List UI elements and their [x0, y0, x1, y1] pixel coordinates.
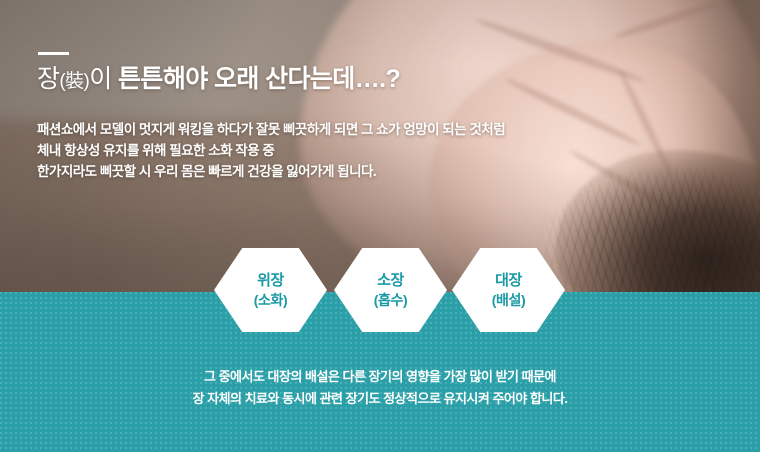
- footer-caption-line: 장 자체의 치료와 동시에 관련 장기도 정상적으로 유지시켜 주어야 합니다.: [0, 388, 760, 410]
- headline-divider-rule: [38, 52, 69, 55]
- headline-lead: 장: [37, 65, 59, 93]
- hex-badge-subtitle: (흡수): [374, 291, 407, 309]
- hex-badge-title: 소장: [377, 272, 404, 290]
- page-title: 장(裝)이 튼튼해야 오래 산다는데….?: [37, 62, 400, 99]
- hex-badge-title: 대장: [495, 272, 522, 290]
- hex-badge-stomach: 위장 (소화): [214, 248, 327, 332]
- footer-caption: 그 중에서도 대장의 배설은 다른 장기의 영향을 가장 많이 받기 때문에 장…: [0, 366, 760, 410]
- hex-badge-large-intestine: 대장 (배설): [452, 248, 565, 332]
- footer-caption-line: 그 중에서도 대장의 배설은 다른 장기의 영향을 가장 많이 받기 때문에: [0, 366, 760, 388]
- headline-emphasis: 튼튼해야 오래 산다는데….?: [118, 65, 400, 93]
- digestive-stage-badges: 위장 (소화) 소장 (흡수) 대장 (배설): [0, 248, 760, 332]
- headline-lead-tail: 이: [89, 65, 118, 93]
- hex-badge-subtitle: (배설): [492, 291, 525, 309]
- body-copy-line: 패션쇼에서 모델이 멋지게 워킹을 하다가 잘못 삐끗하게 되면 그 쇼가 엉망…: [37, 119, 505, 140]
- body-copy-line: 체내 항상성 유지를 위해 필요한 소화 작용 중: [37, 140, 505, 161]
- hex-badge-small-intestine: 소장 (흡수): [334, 248, 447, 332]
- body-copy: 패션쇼에서 모델이 멋지게 워킹을 하다가 잘못 삐끗하게 되면 그 쇼가 엉망…: [37, 119, 505, 182]
- health-promo-banner: 장(裝)이 튼튼해야 오래 산다는데….? 패션쇼에서 모델이 멋지게 워킹을 …: [0, 0, 760, 452]
- body-copy-line: 한가지라도 삐끗할 시 우리 몸은 빠르게 건강을 잃어가게 됩니다.: [37, 161, 505, 182]
- hex-badge-title: 위장: [257, 272, 284, 290]
- headline-hanja: (裝): [59, 71, 89, 92]
- hex-badge-subtitle: (소화): [254, 291, 287, 309]
